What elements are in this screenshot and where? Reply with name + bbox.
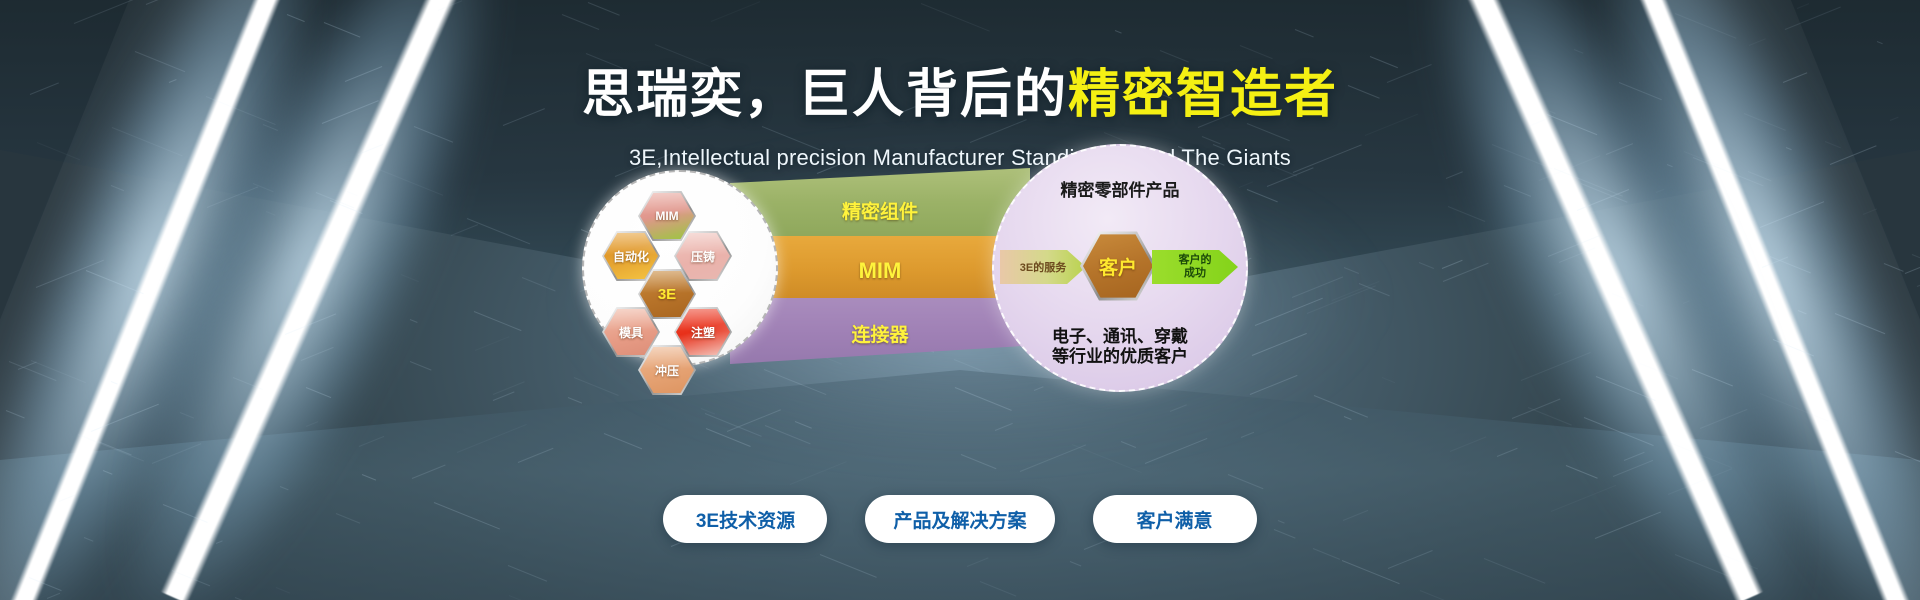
cta-label: 客户满意 [1136, 506, 1212, 533]
hex-label: 3E [658, 286, 676, 303]
arrow-label-line2: 成功 [1184, 267, 1206, 279]
arrow-label-line1: 客户的 [1179, 254, 1212, 266]
headline-white-part: 思瑞奕，巨人背后的 [582, 66, 1068, 124]
hex-label: MIM [655, 209, 678, 223]
customer-circle: 精密零部件产品 3E的服务 客户 客户的 成功 电子、通讯、穿戴 等行业的优质客… [992, 144, 1248, 392]
industries-line2: 等行业的优质客户 [1052, 347, 1188, 366]
hex-customer: 客户 [1080, 230, 1156, 302]
headline: 思瑞奕，巨人背后的精密智造者 [0, 68, 1920, 123]
hex-label: 模具 [619, 324, 643, 341]
customer-industries: 电子、通讯、穿戴 等行业的优质客户 [994, 327, 1246, 368]
band-precision-components: 精密组件 [730, 168, 1030, 236]
hex-stamping: 冲压 [638, 344, 696, 396]
cta-label: 产品及解决方案 [893, 506, 1026, 533]
hex-label: 客户 [1099, 253, 1137, 280]
capability-diagram: 精密组件 MIM 连接器 MIM 自动化 压铸 3E [600, 168, 1320, 358]
headline-yellow-part: 精密智造者 [1068, 66, 1338, 124]
band-connector: 连接器 [730, 298, 1030, 364]
customer-circle-title: 精密零部件产品 [994, 176, 1246, 201]
banner-stage: 思瑞奕，巨人背后的精密智造者 3E,Intellectual precision… [0, 0, 1920, 600]
cta-products-solutions-button[interactable]: 产品及解决方案 [865, 495, 1054, 543]
band-label: MIM [859, 258, 902, 284]
industries-line1: 电子、通讯、穿戴 [1052, 327, 1188, 346]
arrow-label: 3E的服务 [1020, 259, 1066, 275]
arrow-3e-service: 3E的服务 [1000, 250, 1086, 284]
cta-button-row: 3E技术资源 产品及解决方案 客户满意 [0, 495, 1920, 543]
hex-label: 自动化 [613, 248, 649, 265]
cta-tech-resources-button[interactable]: 3E技术资源 [663, 495, 827, 543]
arrow-label: 客户的 成功 [1179, 254, 1212, 279]
cta-customer-satisfaction-button[interactable]: 客户满意 [1093, 495, 1257, 543]
band-label: 连接器 [851, 320, 908, 347]
hex-label: 注塑 [691, 324, 715, 341]
arrow-customer-success: 客户的 成功 [1152, 250, 1238, 284]
cta-label: 3E技术资源 [696, 506, 795, 533]
hex-label: 压铸 [691, 248, 715, 265]
hex-label: 冲压 [655, 362, 679, 379]
band-label: 精密组件 [842, 197, 918, 224]
capability-circle: MIM 自动化 压铸 3E 注塑 模具 [582, 170, 778, 366]
